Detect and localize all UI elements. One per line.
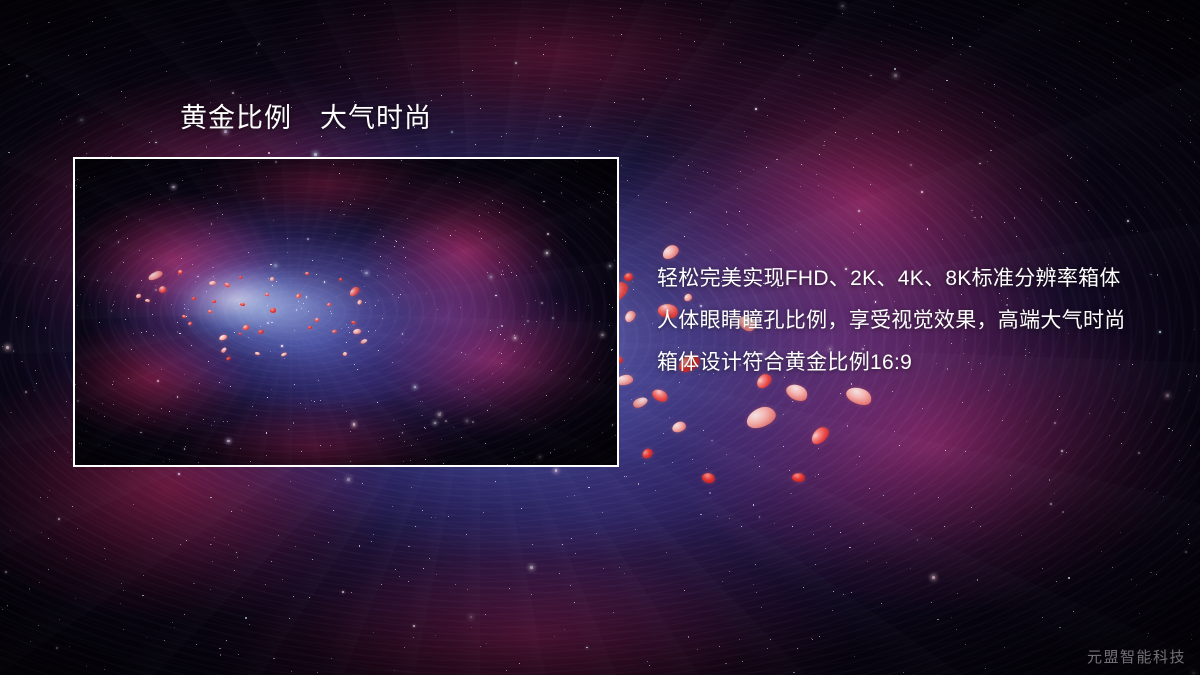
photo-inner [75,159,617,465]
photo-rose-petals [75,159,617,465]
watermark: 元盟智能科技 [1087,646,1186,667]
page-title: 黄金比例 大气时尚 [180,103,432,134]
framed-photo [73,157,619,467]
body-copy-block: 轻松完美实现FHD、2K、4K、8K标准分辨率箱体 人体眼睛瞳孔比例，享受视觉效… [657,258,1177,384]
body-line-2: 人体眼睛瞳孔比例，享受视觉效果，高端大气时尚 [657,300,1177,342]
photo-vignette [75,159,617,465]
photo-starfield [75,159,617,465]
photo-nebula-filaments [75,159,617,465]
body-line-1: 轻松完美实现FHD、2K、4K、8K标准分辨率箱体 [657,258,1177,300]
slide-canvas: 黄金比例 大气时尚 轻松完美实现FHD、2K、4K、8K标准分辨率箱体 人体眼睛… [0,0,1200,675]
body-line-3: 箱体设计符合黄金比例16:9 [657,342,1177,384]
photo-nebula-base [75,159,617,465]
photo-nebula-red-ring [75,159,617,465]
photo-nebula-core [75,159,617,465]
photo-nebula-violet [75,159,617,465]
